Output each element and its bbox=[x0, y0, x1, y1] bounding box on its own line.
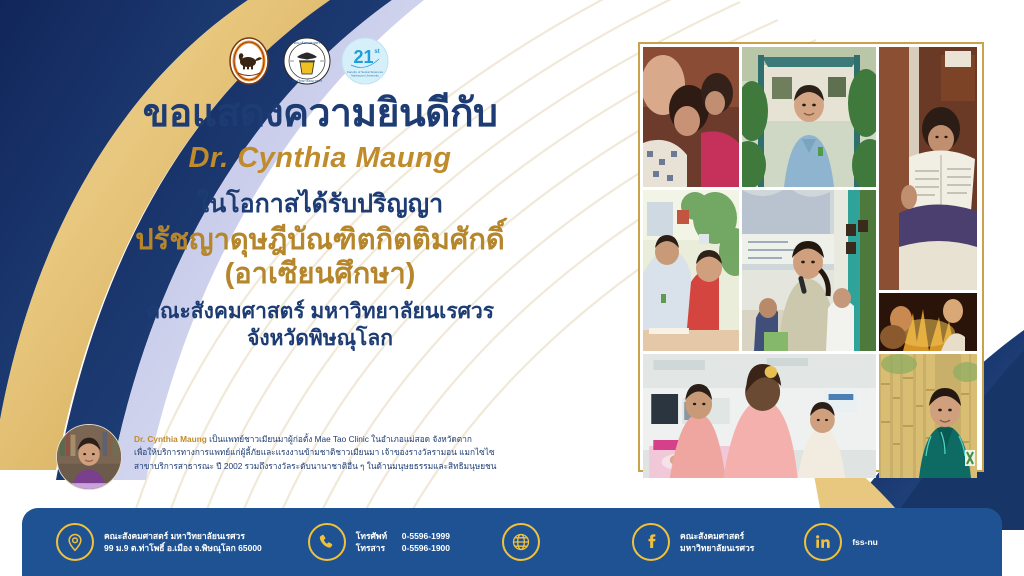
footer-phone-row: โทรศัพท์ 0-5596-1999 bbox=[356, 530, 450, 542]
photo-image bbox=[643, 190, 739, 351]
footer-contact-bar: คณะสังคมศาสตร์ มหาวิทยาลัยนเรศวร 99 ม.9 … bbox=[22, 508, 1002, 576]
svg-text:Naresuan University: Naresuan University bbox=[351, 74, 379, 78]
footer-linkedin-text: fss-nu bbox=[852, 536, 878, 548]
institution-logos: คณะสังคมศาสตร์ มหาวิทยาลัยนเรศวร 21 st F… bbox=[224, 36, 390, 86]
svg-text:st: st bbox=[374, 49, 379, 55]
biography-block: Dr. Cynthia Maung เป็นแพทย์ชาวเมียนมาผู้… bbox=[56, 424, 616, 490]
bio-line-1: Dr. Cynthia Maung เป็นแพทย์ชาวเมียนมาผู้… bbox=[134, 433, 604, 446]
congratulations-poster: คณะสังคมศาสตร์ มหาวิทยาลัยนเรศวร 21 st F… bbox=[0, 0, 1024, 576]
globe-icon[interactable] bbox=[502, 523, 540, 561]
bio-line-1-rest: เป็นแพทย์ชาวเมียนมาผู้ก่อตั้ง Mae Tao Cl… bbox=[207, 434, 472, 444]
honoree-name: Dr. Cynthia Maung bbox=[40, 142, 600, 175]
photo-consulting-mother-and-child bbox=[643, 190, 739, 351]
footer-phone-group: โทรศัพท์ 0-5596-1999 โทรสาร 0-5596-1900 bbox=[308, 523, 450, 561]
congratulations-title: ขอแสดงความยินดีกับ bbox=[40, 92, 600, 136]
footer-fax-row: โทรสาร 0-5596-1900 bbox=[356, 542, 450, 554]
footer-website-group[interactable] bbox=[502, 523, 540, 561]
footer-linkedin-group[interactable]: fss-nu bbox=[804, 523, 878, 561]
footer-facebook-text: คณะสังคมศาสตร์ มหาวิทยาลัยนเรศวร bbox=[680, 530, 754, 555]
svg-text:21: 21 bbox=[353, 47, 373, 67]
photo-image bbox=[742, 190, 876, 351]
bio-highlight-name: Dr. Cynthia Maung bbox=[134, 434, 207, 444]
occasion-line: ในโอกาสได้รับปริญญา bbox=[40, 189, 600, 219]
photo-image bbox=[879, 47, 977, 290]
photo-collage bbox=[638, 42, 984, 472]
footer-facebook-group[interactable]: คณะสังคมศาสตร์ มหาวิทยาลัยนเรศวร bbox=[632, 523, 754, 561]
21st-anniversary-badge-logo: 21 st Faculty of Social Sciences Naresua… bbox=[340, 36, 390, 86]
degree-line-2: (อาเซียนศึกษา) bbox=[40, 257, 600, 292]
photo-image bbox=[742, 47, 876, 187]
footer-phone-text: โทรศัพท์ 0-5596-1999 โทรสาร 0-5596-1900 bbox=[356, 530, 450, 555]
faculty-line-1: คณะสังคมศาสตร์ มหาวิทยาลัยนเรศวร bbox=[40, 299, 600, 325]
biography-text: Dr. Cynthia Maung เป็นแพทย์ชาวเมียนมาผู้… bbox=[134, 433, 604, 473]
avatar-image bbox=[57, 425, 121, 489]
bio-line-3: สาขาบริการสาธารณะ ปี 2002 รวมถึงรางวัลระ… bbox=[134, 460, 604, 473]
linkedin-icon[interactable] bbox=[804, 523, 842, 561]
footer-address-line-1: คณะสังคมศาสตร์ มหาวิทยาลัยนเรศวร bbox=[104, 530, 262, 542]
degree-line-1: ปรัชญาดุษฎีบัณฑิตกิตติมศักดิ์ bbox=[40, 223, 600, 258]
photo-reading-document bbox=[879, 47, 977, 290]
headline-block: ขอแสดงความยินดีกับ Dr. Cynthia Maung ในโ… bbox=[40, 92, 600, 352]
photo-firelight-gathering bbox=[879, 293, 977, 351]
photo-image bbox=[879, 293, 977, 351]
location-pin-icon bbox=[56, 523, 94, 561]
footer-tel-label: โทรศัพท์ bbox=[356, 530, 402, 542]
footer-address-group: คณะสังคมศาสตร์ มหาวิทยาลัยนเรศวร 99 ม.9 … bbox=[56, 523, 262, 561]
footer-fax-label: โทรสาร bbox=[356, 542, 402, 554]
faculty-of-social-sciences-seal-logo: คณะสังคมศาสตร์ มหาวิทยาลัยนเรศวร bbox=[282, 36, 332, 86]
photo-image bbox=[879, 354, 977, 478]
photo-image bbox=[643, 47, 739, 187]
photo-portrait-bamboo-grove bbox=[879, 354, 977, 478]
bio-line-2: เพื่อให้บริการทางการแพทย์แก่ผู้ลี้ภัยและ… bbox=[134, 446, 604, 459]
photo-maternity-ward bbox=[643, 354, 876, 478]
footer-address-line-2: 99 ม.9 ต.ท่าโพธิ์ อ.เมือง จ.พิษณุโลก 650… bbox=[104, 542, 262, 554]
footer-tel-value: 0-5596-1999 bbox=[402, 530, 450, 542]
dr-cynthia-maung-portrait-avatar bbox=[56, 424, 122, 490]
facebook-icon[interactable] bbox=[632, 523, 670, 561]
photo-speaking-with-microphone bbox=[742, 190, 876, 351]
svg-text:คณะสังคมศาสตร์: คณะสังคมศาสตร์ bbox=[294, 41, 321, 45]
photo-clinic-patients-closeup bbox=[643, 47, 739, 187]
footer-address-text: คณะสังคมศาสตร์ มหาวิทยาลัยนเรศวร 99 ม.9 … bbox=[104, 530, 262, 555]
telephone-icon bbox=[308, 523, 346, 561]
naresuan-university-seal-logo bbox=[224, 36, 274, 86]
svg-text:มหาวิทยาลัยนเรศวร: มหาวิทยาลัยนเรศวร bbox=[292, 79, 323, 83]
footer-facebook-line-1: คณะสังคมศาสตร์ bbox=[680, 530, 754, 542]
photo-image bbox=[643, 354, 876, 478]
photo-portrait-outside-clinic bbox=[742, 47, 876, 187]
faculty-line-2: จังหวัดพิษณุโลก bbox=[40, 326, 600, 352]
footer-facebook-line-2: มหาวิทยาลัยนเรศวร bbox=[680, 542, 754, 554]
footer-fax-value: 0-5596-1900 bbox=[402, 542, 450, 554]
